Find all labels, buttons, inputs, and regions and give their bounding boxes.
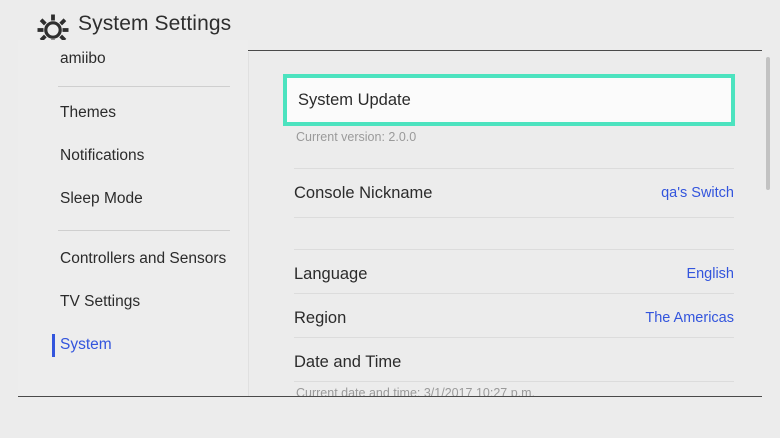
sidebar-item-label: Sleep Mode bbox=[60, 190, 143, 207]
sidebar-item-label: amiibo bbox=[60, 50, 106, 67]
sidebar-item-controllers-and-sensors[interactable]: Controllers and Sensors bbox=[18, 244, 248, 274]
setting-row-system-update[interactable]: System Update bbox=[283, 74, 735, 126]
sidebar-separator bbox=[58, 86, 230, 87]
sidebar-item-system[interactable]: System bbox=[18, 330, 248, 360]
sidebar-item-label: Themes bbox=[60, 104, 116, 121]
setting-row-region[interactable]: Region The Americas bbox=[294, 294, 734, 342]
system-settings-screen: System Settings amiibo Themes Notificati… bbox=[0, 0, 780, 438]
setting-label: Language bbox=[294, 250, 367, 298]
setting-value: The Americas bbox=[645, 294, 734, 342]
sidebar-item-sleep-mode[interactable]: Sleep Mode bbox=[18, 184, 248, 214]
row-separator bbox=[294, 217, 734, 218]
bottom-bar: B Back A OK bbox=[0, 397, 780, 438]
system-update-version-note: Current version: 2.0.0 bbox=[296, 130, 416, 144]
content-scrollbar-thumb[interactable] bbox=[766, 57, 770, 190]
sidebar-item-themes[interactable]: Themes bbox=[18, 98, 248, 128]
setting-label: Console Nickname bbox=[294, 169, 432, 217]
sidebar-separator bbox=[58, 230, 230, 231]
settings-list: System Update Current version: 2.0.0 Con… bbox=[249, 51, 763, 396]
setting-label: Region bbox=[294, 294, 346, 342]
sidebar: amiibo Themes Notifications Sleep Mode C… bbox=[18, 40, 248, 396]
date-time-current-note: Current date and time: 3/1/2017 10:27 p.… bbox=[296, 386, 535, 396]
setting-label: System Update bbox=[298, 78, 411, 122]
setting-label: Date and Time bbox=[294, 338, 401, 386]
setting-row-console-nickname[interactable]: Console Nickname qa's Switch bbox=[294, 169, 734, 217]
setting-value: English bbox=[686, 250, 734, 298]
setting-row-date-and-time[interactable]: Date and Time bbox=[294, 338, 734, 386]
sidebar-item-label: TV Settings bbox=[60, 293, 140, 310]
sidebar-item-amiibo[interactable]: amiibo bbox=[18, 44, 248, 74]
setting-value: qa's Switch bbox=[661, 169, 734, 217]
sidebar-item-label: Controllers and Sensors bbox=[60, 250, 226, 267]
sidebar-item-label: System bbox=[60, 336, 112, 353]
setting-row-language[interactable]: Language English bbox=[294, 250, 734, 298]
sidebar-item-notifications[interactable]: Notifications bbox=[18, 141, 248, 171]
sidebar-item-tv-settings[interactable]: TV Settings bbox=[18, 287, 248, 317]
sidebar-item-label: Notifications bbox=[60, 147, 144, 164]
row-separator bbox=[294, 381, 734, 382]
page-title: System Settings bbox=[78, 12, 231, 36]
